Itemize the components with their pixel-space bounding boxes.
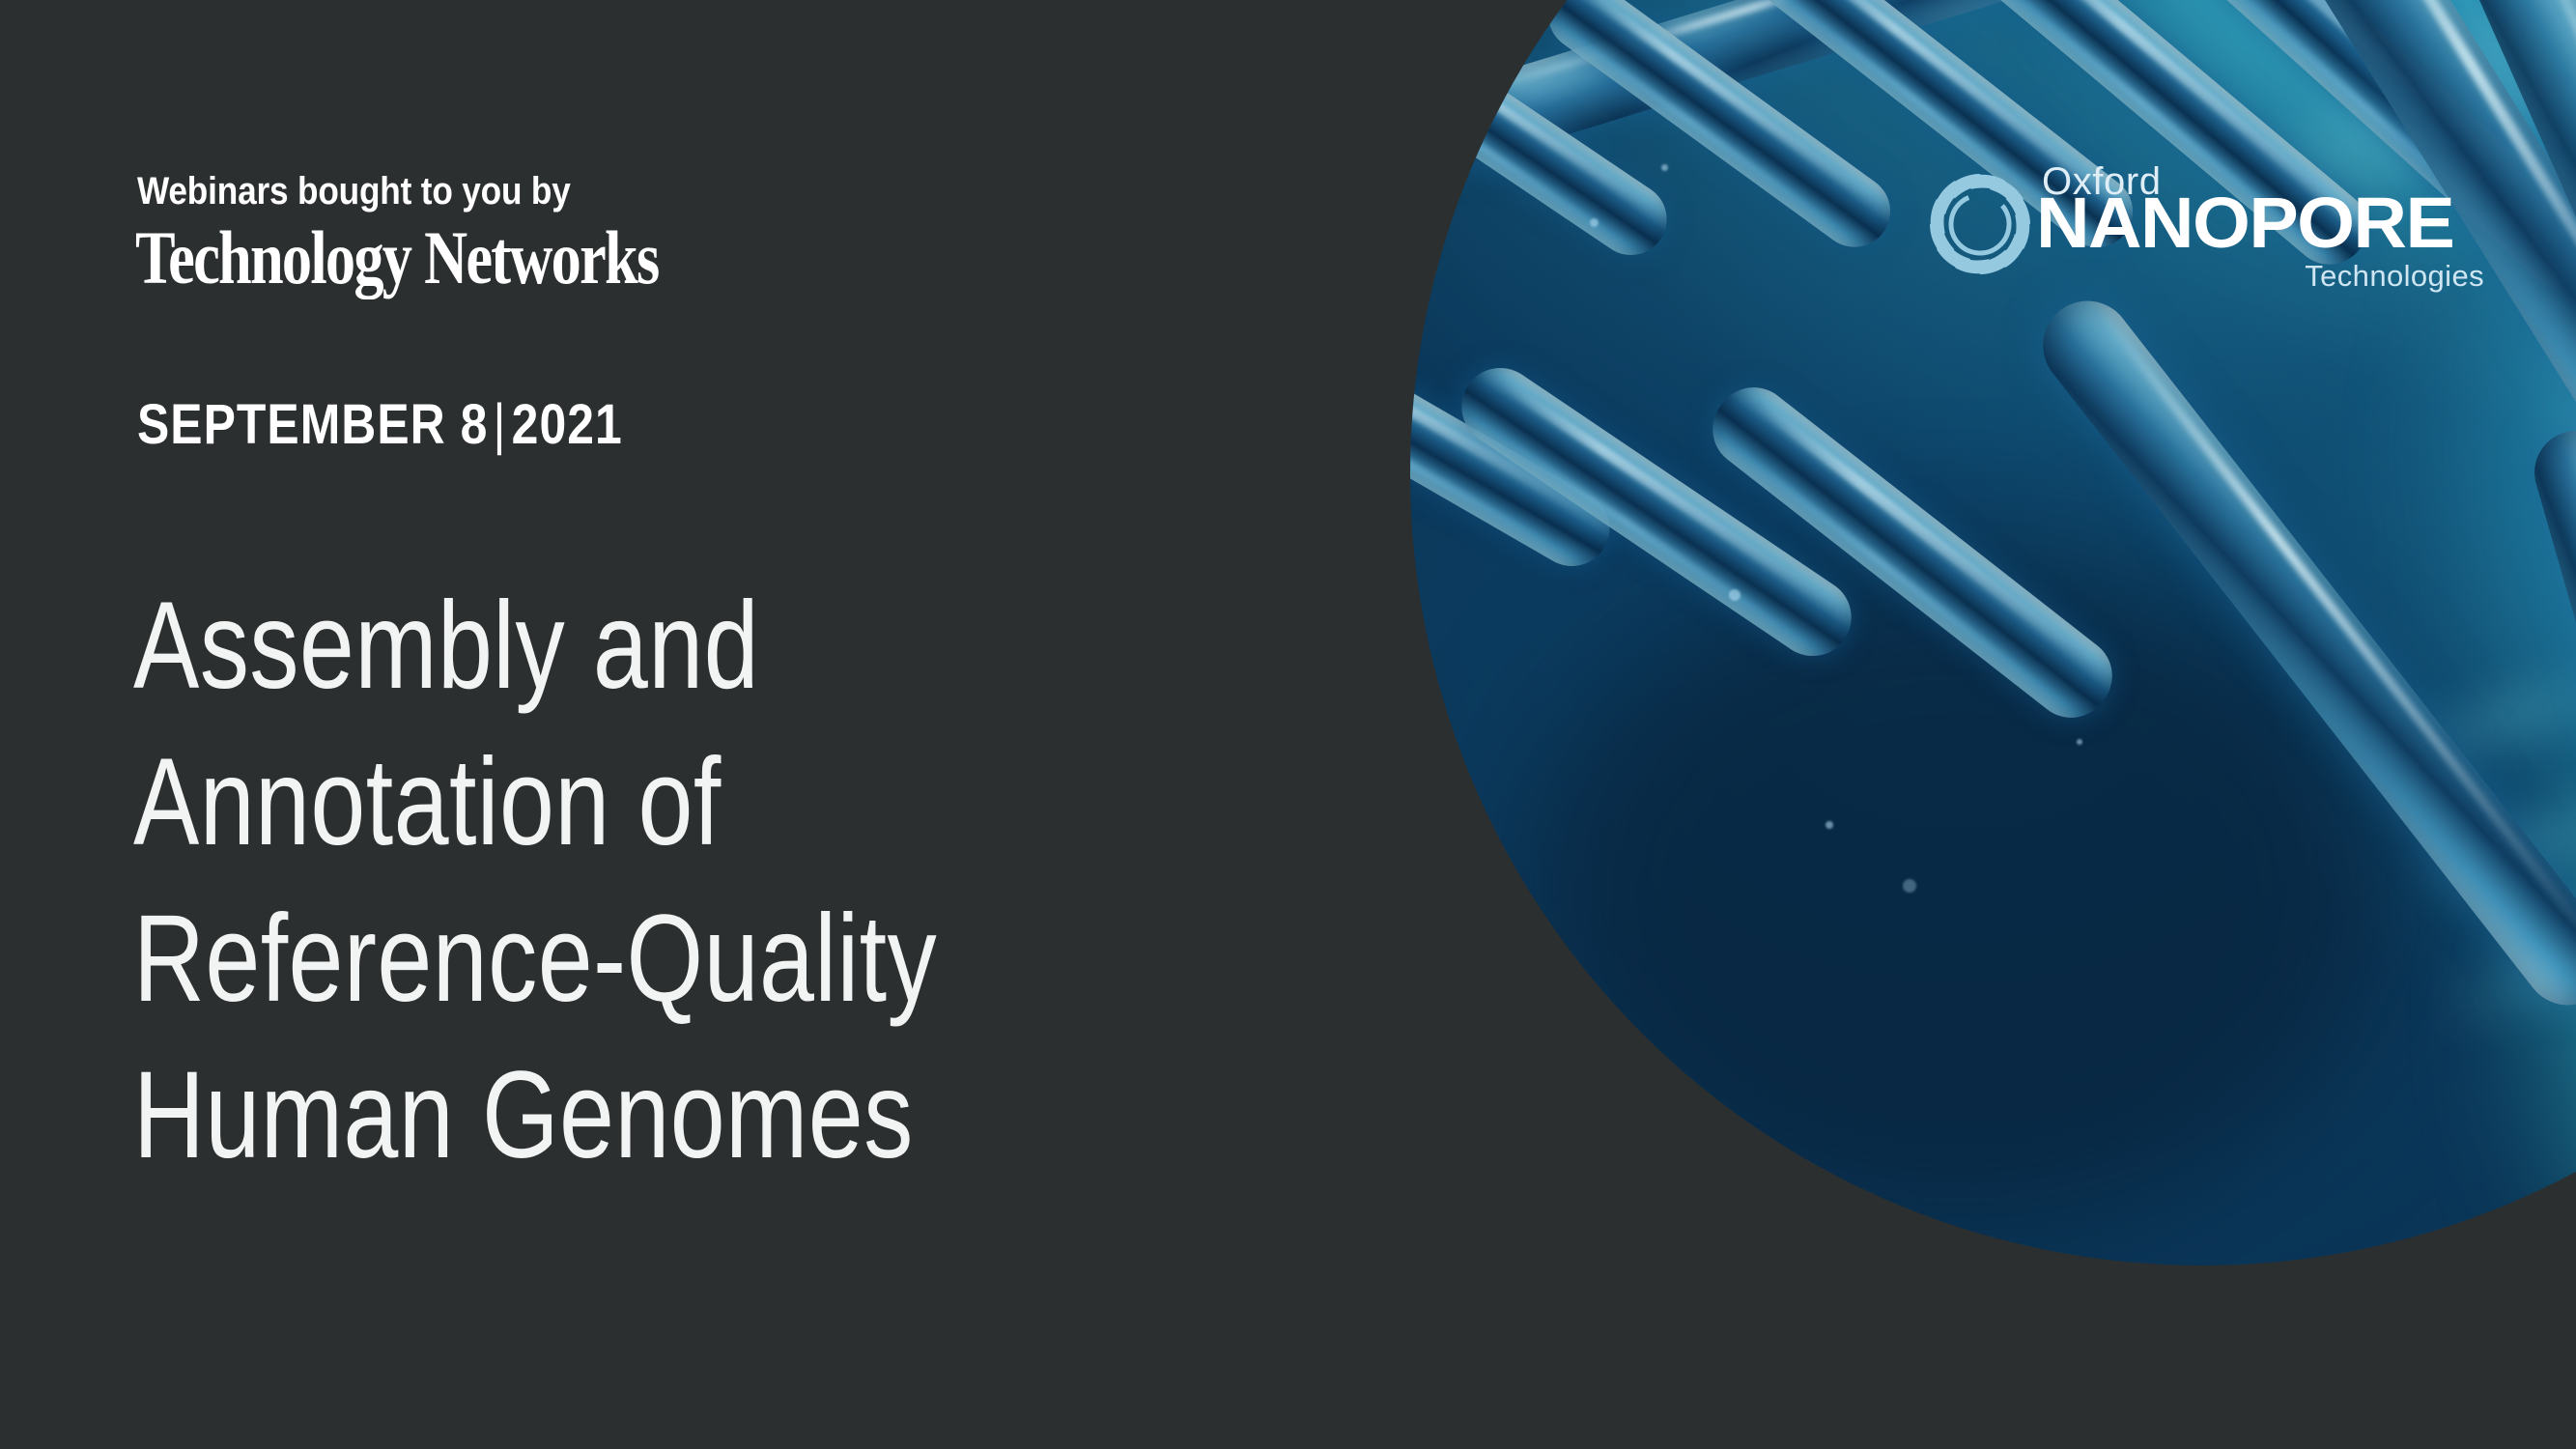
oxford-nanopore-logo: Oxford NANOPORE Technologies <box>1922 162 2482 288</box>
logo-technologies-text: Technologies <box>2305 259 2484 294</box>
particle <box>1729 589 1741 601</box>
event-date-separator: | <box>488 393 511 456</box>
webinar-eyebrow-text: Webinars bought to you by <box>137 170 571 213</box>
title-line: Annotation of <box>133 724 937 881</box>
title-line: Reference-Quality <box>133 881 937 1037</box>
particle <box>2077 739 2082 745</box>
title-line: Assembly and <box>133 568 937 724</box>
particle <box>1661 164 1668 171</box>
technology-networks-logo: Technology Networks <box>135 220 658 296</box>
nanopore-swirl-icon <box>1922 166 2038 282</box>
event-date-monthday: SEPTEMBER 8 <box>137 393 488 456</box>
webinar-promo-banner: Oxford NANOPORE Technologies Webinars bo… <box>0 0 2576 1449</box>
logo-nanopore-text: NANOPORE <box>2036 189 2453 257</box>
event-date-year: 2021 <box>512 393 623 456</box>
particle <box>1826 821 1833 829</box>
event-date: SEPTEMBER 8|2021 <box>137 392 623 457</box>
page-title: Assembly and Annotation of Reference-Qua… <box>133 568 937 1194</box>
helix-backbone-tail <box>2525 421 2576 1150</box>
helix-backbone-cross <box>2025 283 2576 1023</box>
particle <box>1590 218 1599 227</box>
title-line: Human Genomes <box>133 1037 937 1194</box>
particle <box>1903 879 1916 893</box>
